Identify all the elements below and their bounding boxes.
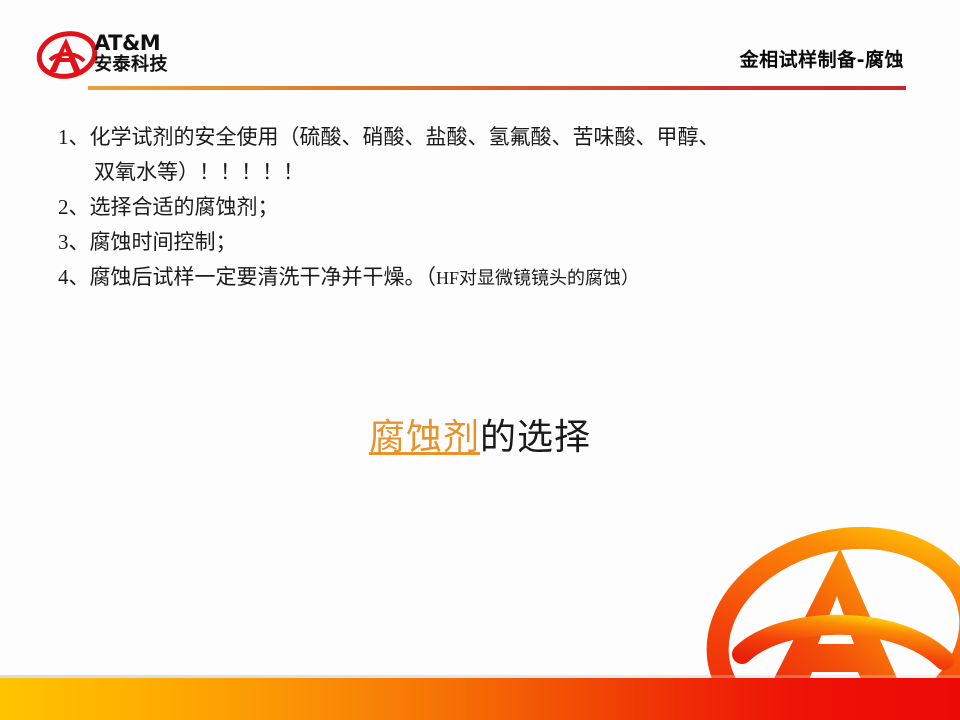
company-logo: AT&M 安泰科技: [36, 30, 188, 82]
footer-bar: [0, 678, 960, 720]
list-item-text-head: 4、腐蚀后试样一定要清洗干净并干燥。（: [58, 265, 436, 289]
list-item-text-tail: 对显微镜镜头的腐蚀）: [459, 268, 639, 288]
header-divider: [88, 86, 906, 90]
logo-cjk-text: 安泰科技: [94, 54, 190, 76]
presentation-slide: AT&M 安泰科技 金相试样制备-腐蚀 1、化学试剂的安全使用（硫酸、硝酸、盐酸…: [0, 0, 960, 720]
content-list: 1、化学试剂的安全使用（硫酸、硝酸、盐酸、氢氟酸、苦味酸、甲醇、 双氧水等）！！…: [58, 120, 918, 296]
list-item-latin-term: HF: [436, 268, 459, 288]
page-title: 金相试样制备-腐蚀: [740, 45, 904, 72]
section-heading: 腐蚀剂的选择: [0, 408, 960, 460]
list-item: 4、腐蚀后试样一定要清洗干净并干燥。（HF对显微镜镜头的腐蚀）: [58, 260, 918, 296]
list-item: 1、化学试剂的安全使用（硫酸、硝酸、盐酸、氢氟酸、苦味酸、甲醇、: [58, 120, 918, 155]
logo-wordmark: AT&M 安泰科技: [94, 32, 190, 76]
section-heading-rest: 的选择: [480, 417, 591, 457]
list-item: 3、腐蚀时间控制；: [58, 225, 918, 260]
list-item: 2、选择合适的腐蚀剂；: [58, 190, 918, 225]
slide-header: AT&M 安泰科技 金相试样制备-腐蚀: [0, 0, 960, 96]
logo-latin-text: AT&M: [94, 32, 190, 54]
at-m-logo-mark-icon: [36, 30, 98, 80]
list-item-continuation: 双氧水等）！！！！！: [58, 155, 918, 190]
section-heading-highlight[interactable]: 腐蚀剂: [369, 417, 480, 457]
